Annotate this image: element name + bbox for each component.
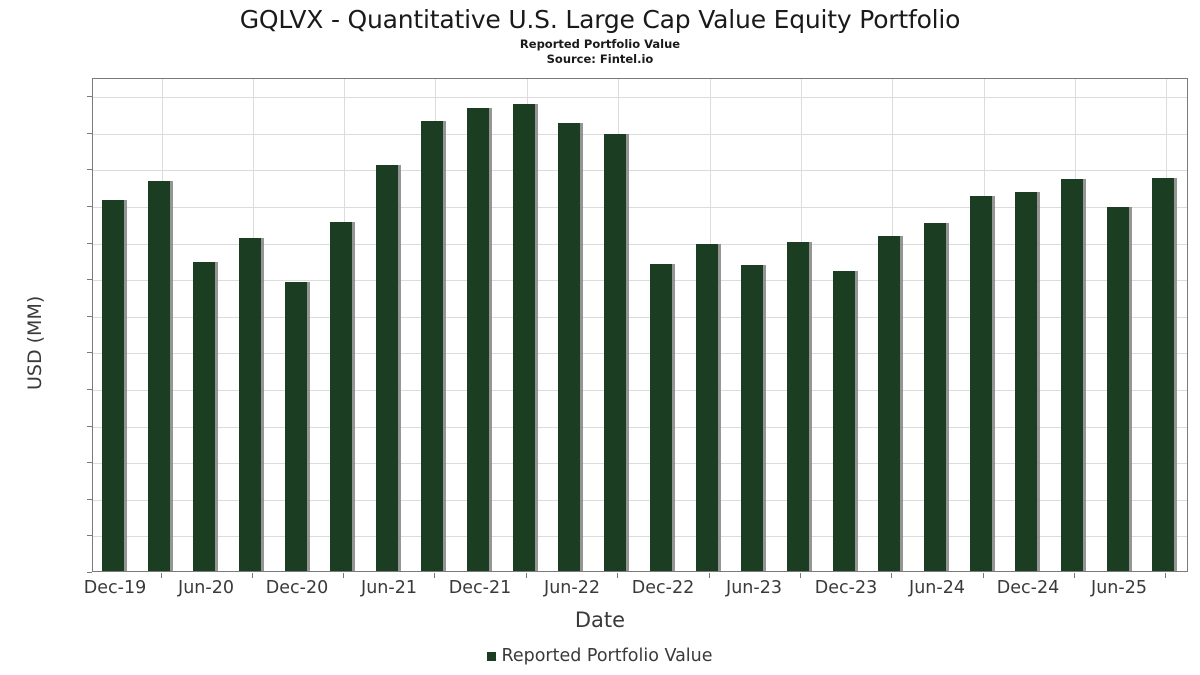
x-axis-tick-label: Jun-23 <box>704 578 804 598</box>
x-axis-tick-label: Jun-22 <box>522 578 622 598</box>
bar[interactable] <box>924 223 946 571</box>
legend-square-marker-icon <box>487 652 496 661</box>
bar[interactable] <box>102 200 124 571</box>
x-axis-tick-label: Dec-24 <box>978 578 1078 598</box>
x-axis-tick-label: Jun-21 <box>339 578 439 598</box>
x-axis-tick-label: Dec-20 <box>247 578 347 598</box>
bar[interactable] <box>787 242 809 571</box>
bar[interactable] <box>1107 207 1129 571</box>
bar[interactable] <box>148 181 170 571</box>
x-axis-tick-label: Dec-23 <box>796 578 896 598</box>
bar[interactable] <box>285 282 307 571</box>
chart-legend: Reported Portfolio Value <box>0 646 1200 666</box>
bar[interactable] <box>696 244 718 572</box>
plot-area <box>92 78 1188 572</box>
bar[interactable] <box>1152 178 1174 571</box>
bar[interactable] <box>513 104 535 571</box>
legend-item-label: Reported Portfolio Value <box>501 646 712 666</box>
chart-subtitle: Reported Portfolio Value <box>0 37 1200 52</box>
bar[interactable] <box>376 165 398 571</box>
x-axis-tick-label: Jun-24 <box>887 578 987 598</box>
bar[interactable] <box>467 108 489 571</box>
y-axis-label: USD (MM) <box>24 296 46 390</box>
page-title: GQLVX - Quantitative U.S. Large Cap Valu… <box>0 5 1200 35</box>
bar[interactable] <box>421 121 443 571</box>
bar[interactable] <box>1015 192 1037 571</box>
chart-container: GQLVX - Quantitative U.S. Large Cap Valu… <box>0 0 1200 675</box>
bar[interactable] <box>239 238 261 571</box>
bar[interactable] <box>604 134 626 571</box>
y-axis-tick-mark <box>87 572 92 573</box>
x-axis-tick-label: Dec-19 <box>65 578 165 598</box>
bar[interactable] <box>970 196 992 571</box>
bar[interactable] <box>833 271 855 571</box>
x-axis-tick-label: Jun-20 <box>156 578 256 598</box>
bar[interactable] <box>1061 179 1083 571</box>
bar[interactable] <box>193 262 215 571</box>
x-axis-tick-label: Jun-25 <box>1069 578 1169 598</box>
bar[interactable] <box>650 264 672 571</box>
title-block: GQLVX - Quantitative U.S. Large Cap Valu… <box>0 0 1200 67</box>
bar[interactable] <box>878 236 900 571</box>
x-axis-tick-label: Dec-22 <box>613 578 713 598</box>
bars-layer <box>93 79 1187 571</box>
x-axis-tick-label: Dec-21 <box>430 578 530 598</box>
chart-source: Source: Fintel.io <box>0 52 1200 67</box>
bar[interactable] <box>330 222 352 571</box>
bar[interactable] <box>741 265 763 571</box>
x-axis-label: Date <box>0 608 1200 632</box>
bar[interactable] <box>558 123 580 571</box>
